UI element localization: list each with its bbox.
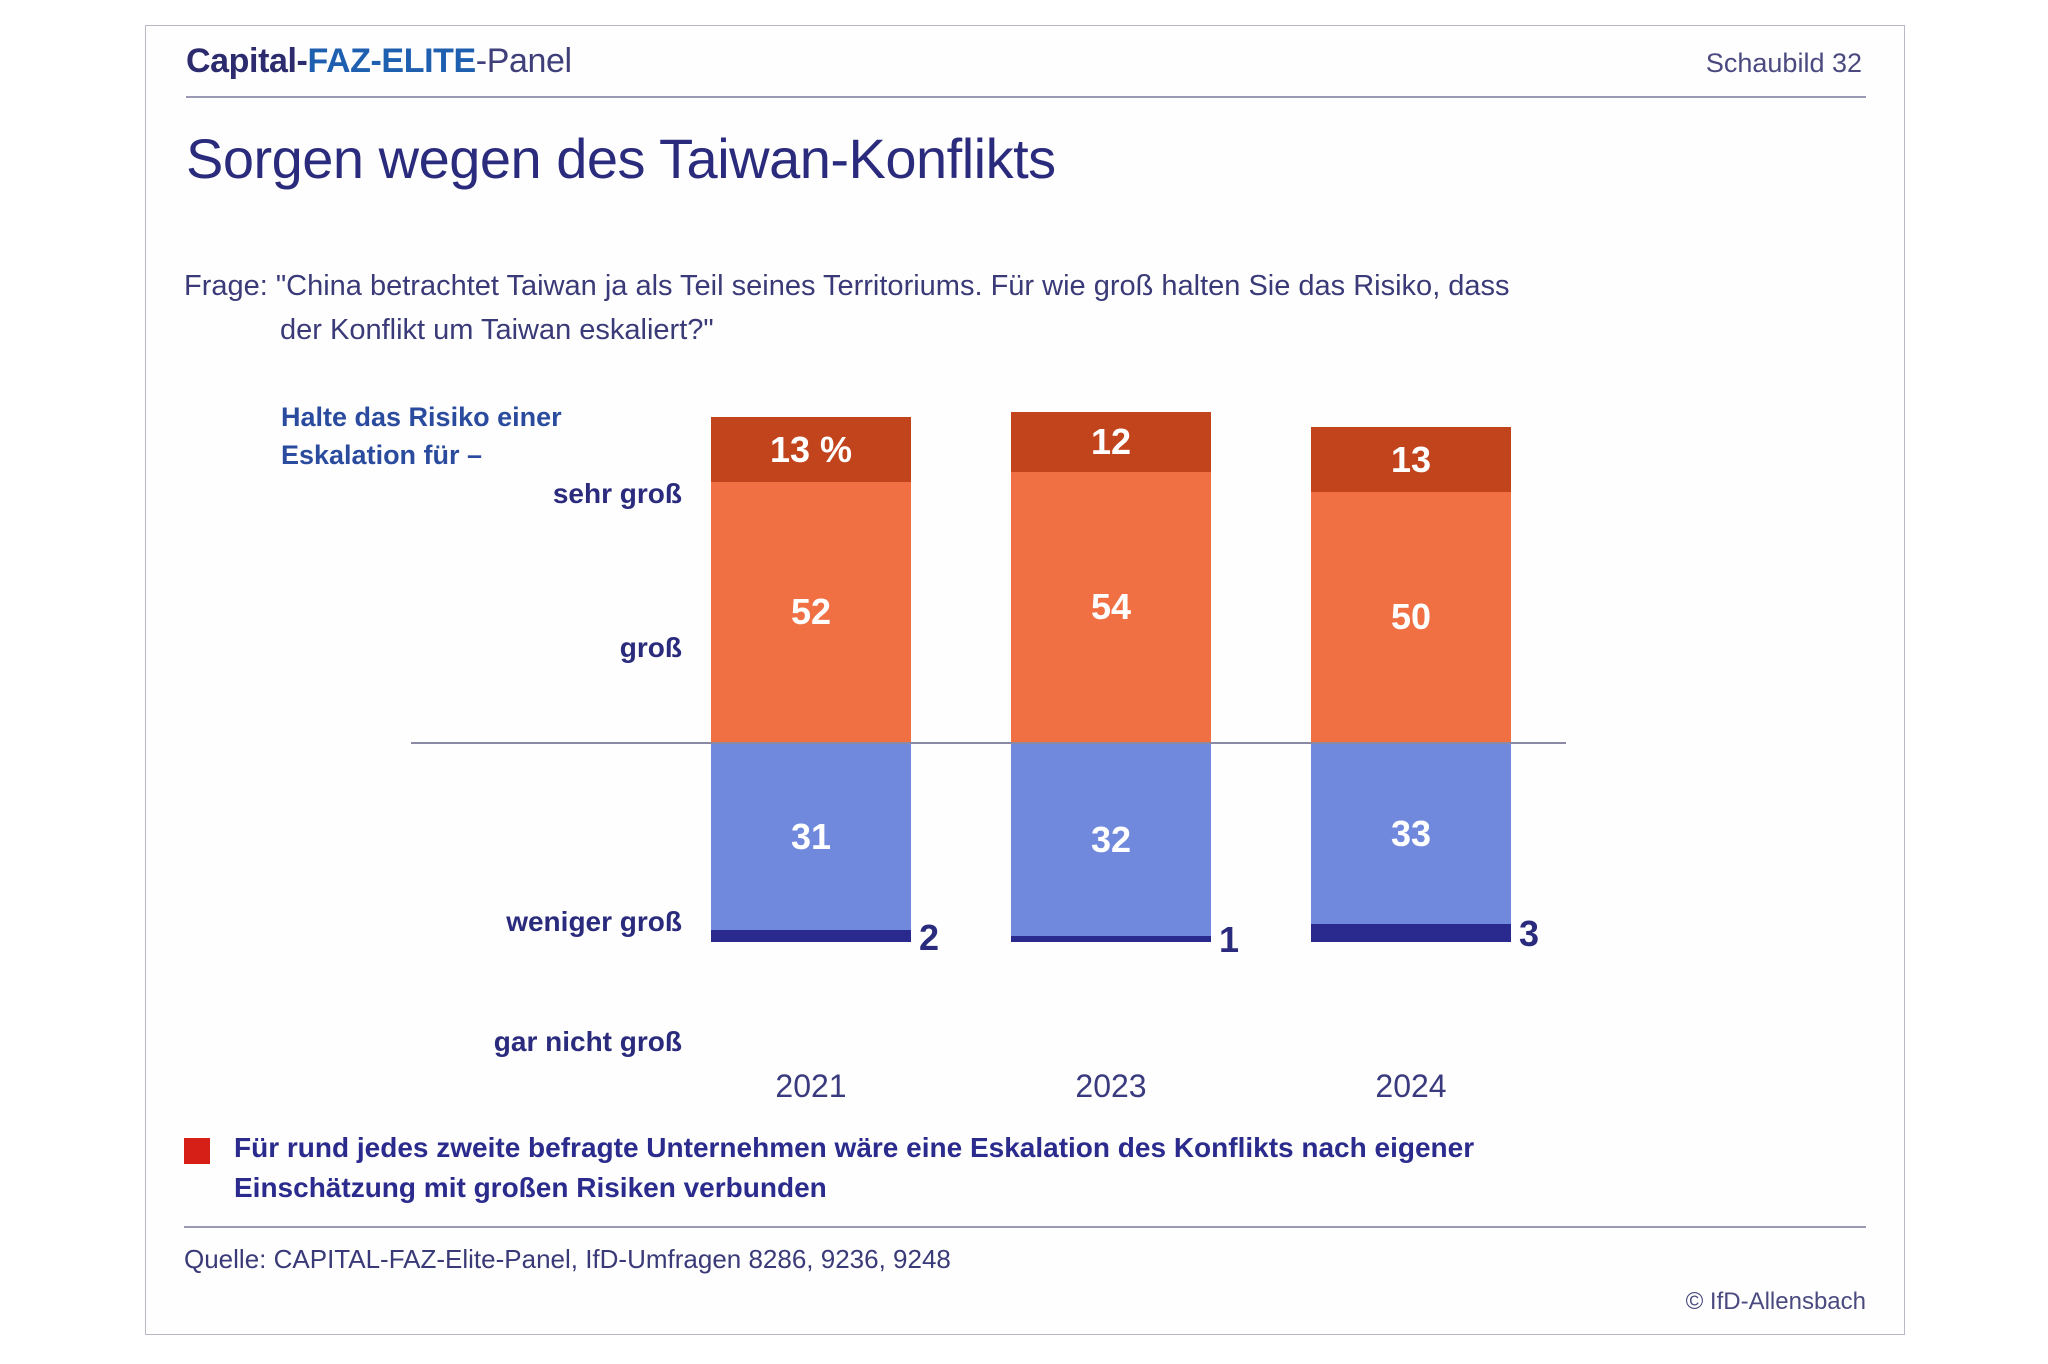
footnote-line-1: Für rund jedes zweite befragte Unternehm… (234, 1128, 1854, 1168)
bar-segment-weniger-gross-2023[interactable]: 32 (1011, 744, 1211, 936)
bar-value-gross-2023: 54 (1091, 586, 1131, 628)
bar-segment-gar-nicht-gross-2024[interactable]: 3 (1311, 924, 1511, 942)
bar-stack-down-2024: 33 3 3 (1311, 744, 1511, 942)
bar-segment-sehr-gross-2024[interactable]: 13 (1311, 427, 1511, 492)
year-label-2023: 2023 (1011, 1068, 1211, 1105)
source-line: Quelle: CAPITAL-FAZ-Elite-Panel, IfD-Umf… (184, 1244, 951, 1275)
bar-segment-weniger-gross-2021[interactable]: 31 (711, 744, 911, 930)
bar-segment-gross-2024[interactable]: 50 (1311, 492, 1511, 742)
bar-value-sehr-gross-2023: 12 (1091, 421, 1131, 463)
bar-segment-gar-nicht-gross-2023[interactable]: 1 (1011, 936, 1211, 942)
footer-divider (184, 1226, 1866, 1228)
copyright-line: © IfD-Allensbach (1686, 1288, 1866, 1316)
bar-stack-up-2023: 12 54 (1011, 322, 1211, 742)
footnote-text: Für rund jedes zweite befragte Unternehm… (234, 1128, 1854, 1208)
bar-segment-weniger-gross-2024[interactable]: 33 (1311, 744, 1511, 924)
bar-stack-down-2023: 32 1 1 (1011, 744, 1211, 942)
bar-value-weniger-gross-2021: 31 (791, 816, 831, 858)
row-label-gross: groß (620, 632, 682, 664)
year-label-2021: 2021 (711, 1068, 911, 1105)
bar-value-gar-nicht-gross-2023: 1 (1219, 922, 1239, 958)
bar-value-gross-2024: 50 (1391, 596, 1431, 638)
bar-segment-sehr-gross-2023[interactable]: 12 (1011, 412, 1211, 472)
bar-segment-gross-2021[interactable]: 52 (711, 482, 911, 742)
bar-stack-up-2024: 13 50 (1311, 322, 1511, 742)
bar-value-sehr-gross-2024: 13 (1391, 439, 1431, 481)
row-label-gar-nicht-gross: gar nicht groß (494, 1026, 682, 1058)
footnote: Für rund jedes zweite befragte Unternehm… (184, 1128, 1854, 1208)
year-label-2024: 2024 (1311, 1068, 1511, 1105)
row-label-sehr-gross: sehr groß (553, 478, 682, 510)
bar-value-gross-2021: 52 (791, 591, 831, 633)
footnote-line-2: Einschätzung mit großen Risiken verbunde… (234, 1168, 1854, 1208)
bar-segment-gross-2023[interactable]: 54 (1011, 472, 1211, 742)
bar-value-gar-nicht-gross-2024: 3 (1519, 916, 1539, 952)
bar-value-sehr-gross-2021: 13 % (770, 429, 852, 471)
bar-segment-sehr-gross-2021[interactable]: 13 % (711, 417, 911, 482)
bar-stack-down-2021: 31 2 2 (711, 744, 911, 942)
bar-value-gar-nicht-gross-2021: 2 (919, 920, 939, 956)
red-square-icon (184, 1138, 210, 1164)
bar-value-weniger-gross-2023: 32 (1091, 819, 1131, 861)
bar-stack-up-2021: 13 % 52 (711, 322, 911, 742)
bar-segment-gar-nicht-gross-2021[interactable]: 2 (711, 930, 911, 942)
row-label-weniger-gross: weniger groß (506, 906, 682, 938)
slide-frame: Capital-FAZ-ELITE-Panel Schaubild 32 Sor… (145, 25, 1905, 1335)
bar-value-weniger-gross-2024: 33 (1391, 813, 1431, 855)
